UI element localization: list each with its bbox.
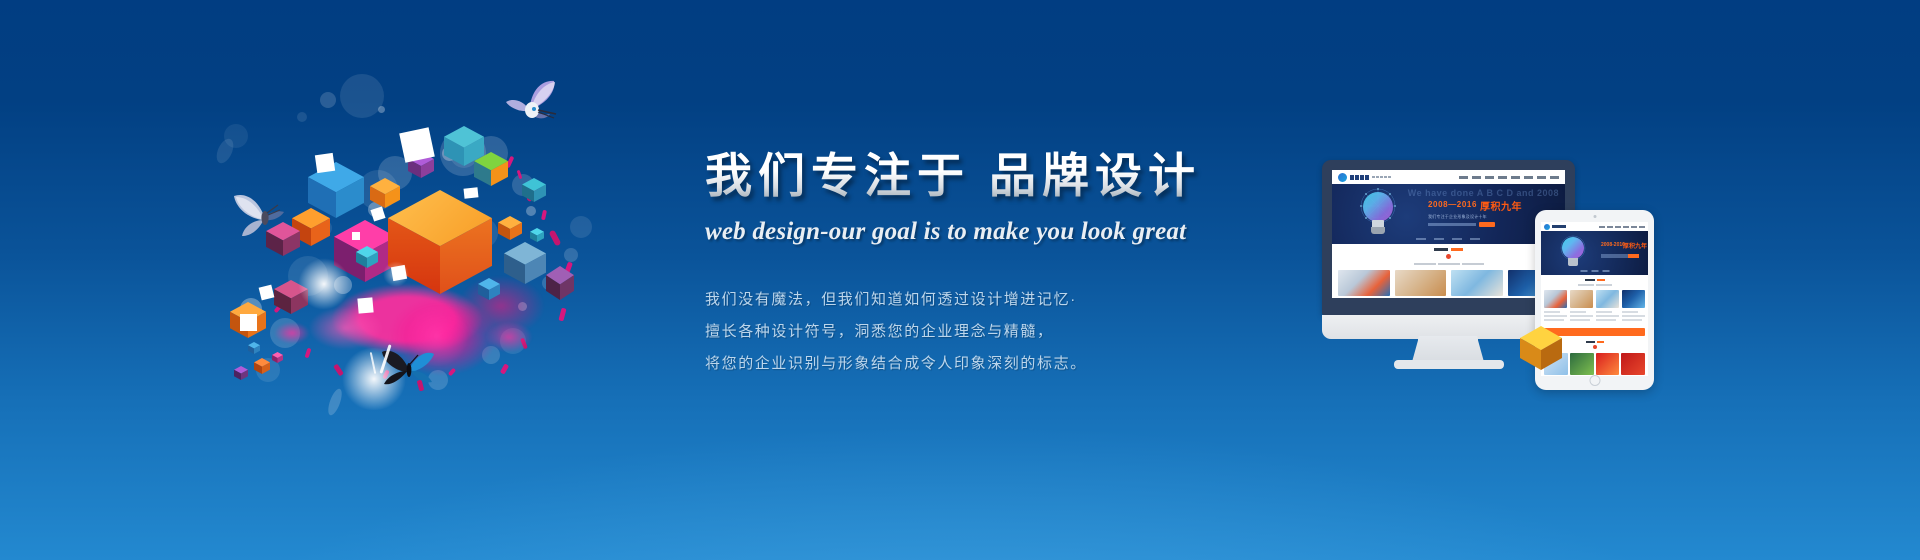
site-nav-item[interactable] — [1537, 176, 1546, 179]
site-logo-text — [1350, 175, 1369, 180]
thumbnail-grid — [1338, 270, 1559, 296]
tablet-nav-item[interactable] — [1631, 226, 1637, 228]
tablet-bulb-base — [1568, 258, 1578, 266]
tablet-thumbnail-item[interactable] — [1570, 290, 1593, 308]
site-nav-item[interactable] — [1459, 176, 1468, 179]
description-line-3: 将您的企业识别与形象结合成令人印象深刻的标志。 — [705, 356, 1265, 371]
tablet-thumbnail-item[interactable] — [1622, 290, 1645, 308]
site-nav-item[interactable] — [1511, 176, 1520, 179]
site-nav-item[interactable] — [1498, 176, 1507, 179]
monitor-stand-base — [1394, 360, 1504, 369]
tablet-nav-item[interactable] — [1607, 226, 1613, 228]
site-nav-item[interactable] — [1485, 176, 1494, 179]
tablet-nav-item[interactable] — [1623, 226, 1629, 228]
thumbnail-item[interactable] — [1451, 270, 1503, 296]
tablet-bulb-glass — [1562, 237, 1584, 259]
site-header — [1332, 170, 1565, 184]
device-mockups: We have done A B C D and 2008 — [1322, 160, 1652, 390]
tablet-case-item[interactable] — [1570, 353, 1594, 375]
banner-copy: 我们专注于 品牌设计 web design-our goal is to mak… — [705, 150, 1265, 388]
site-nav-item[interactable] — [1524, 176, 1533, 179]
hero-years: 2008—2016 — [1428, 200, 1477, 209]
description-paragraph: 我们没有魔法，但我们知道如何透过设计增进记忆· 擅长各种设计符号，洞悉您的企业理… — [705, 292, 1265, 371]
tablet-camera-icon — [1593, 215, 1596, 218]
tablet-nav-item[interactable] — [1599, 226, 1605, 228]
page-title: 我们专注于 品牌设计 — [705, 150, 1265, 202]
tablet-site-header — [1541, 222, 1648, 231]
tablet-hero-banner: 2008-2016 厚积九年 — [1541, 231, 1648, 275]
monitor-screen: We have done A B C D and 2008 — [1332, 170, 1565, 298]
tablet-site-nav — [1599, 226, 1645, 228]
gold-cube-decoration — [1518, 324, 1564, 372]
hero-tagline: 厚积九年 — [1480, 198, 1522, 213]
site-logo-icon — [1338, 173, 1347, 182]
description-line-1: 我们没有魔法，但我们知道如何透过设计增进记忆· — [705, 292, 1265, 307]
tablet-hero-cta[interactable] — [1601, 254, 1639, 258]
site-hero-banner: We have done A B C D and 2008 — [1332, 184, 1565, 244]
tablet-caption-row — [1544, 311, 1645, 323]
thumbnail-item[interactable] — [1395, 270, 1447, 296]
tablet-thumbnail-item[interactable] — [1596, 290, 1619, 308]
tablet-lightbulb-icon — [1557, 237, 1589, 270]
hero-cta-row — [1428, 222, 1495, 227]
hero-ghost-text: We have done A B C D and 2008 — [1408, 188, 1559, 198]
thumbnail-item[interactable] — [1338, 270, 1390, 296]
tablet-section-marker-2 — [1593, 345, 1597, 349]
artwork-collage — [212, 70, 652, 470]
tablet-section-title — [1544, 279, 1645, 281]
tablet-thumbnail-item[interactable] — [1544, 290, 1567, 308]
hero-cta-button[interactable] — [1479, 222, 1495, 227]
tablet-site-logo-text — [1552, 225, 1566, 228]
light-streaks-layer — [212, 70, 652, 470]
tablet-case-item[interactable] — [1596, 353, 1620, 375]
tablet-hero-pagination[interactable] — [1580, 270, 1609, 272]
hero-banner: 我们专注于 品牌设计 web design-our goal is to mak… — [0, 0, 1920, 560]
site-nav-item[interactable] — [1550, 176, 1559, 179]
site-logo-tagline — [1372, 176, 1391, 178]
section-title — [1338, 248, 1559, 251]
tablet-hero-years: 2008-2016 — [1601, 242, 1625, 248]
tablet-nav-item[interactable] — [1615, 226, 1621, 228]
tablet-site-logo-icon — [1544, 224, 1550, 230]
description-line-2: 擅长各种设计符号，洞悉您的企业理念与精髓， — [705, 324, 1265, 339]
tablet-case-item[interactable] — [1621, 353, 1645, 375]
tablet-section-description — [1544, 284, 1645, 286]
lightbulb-network-icon — [1356, 192, 1400, 238]
hero-subtitle: 我们专注于企业形象及设计十年 — [1428, 214, 1487, 220]
section-description — [1338, 263, 1559, 265]
lightbulb-glass — [1363, 192, 1393, 222]
lightbulb-base — [1371, 227, 1385, 234]
site-section-services — [1332, 244, 1565, 298]
tablet-nav-item[interactable] — [1639, 226, 1645, 228]
site-nav-item[interactable] — [1472, 176, 1481, 179]
site-nav — [1459, 176, 1559, 179]
monitor-stand-neck — [1418, 336, 1478, 362]
tablet-thumbnail-grid — [1544, 290, 1645, 308]
hero-pagination[interactable] — [1416, 238, 1480, 240]
tablet-home-button[interactable] — [1589, 375, 1600, 386]
tablet-hero-tagline: 厚积九年 — [1623, 241, 1647, 250]
section-marker — [1446, 254, 1451, 259]
page-subtitle: web design-our goal is to make you look … — [705, 218, 1265, 246]
